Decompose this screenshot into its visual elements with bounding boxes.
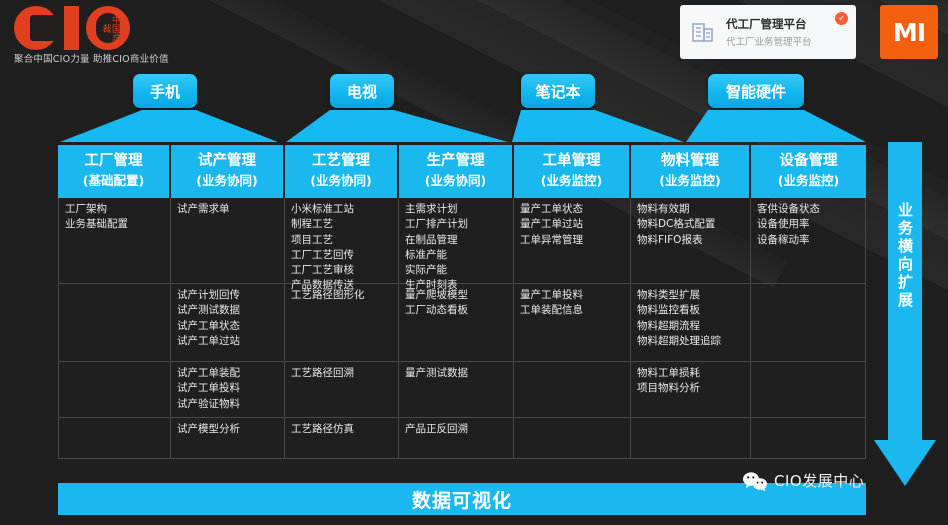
matrix-cell[interactable] [514, 418, 631, 459]
matrix-header-factory[interactable]: 工厂管理 (基础配置) [58, 145, 171, 198]
tab-smart-hardware[interactable]: 智能硬件 [708, 74, 804, 108]
matrix-cell-item: 物料工单损耗 [637, 366, 745, 381]
business-expansion-arrow: 业务横向扩展 [874, 142, 936, 497]
matrix-cell-item: 小米标准工站 [291, 202, 393, 217]
matrix-cell[interactable] [751, 362, 866, 418]
matrix-cell-item: 试产计划回传 [177, 288, 279, 303]
matrix-cell-item: 工厂工艺审核 [291, 263, 393, 278]
matrix-cell-item: 实际产能 [405, 263, 508, 278]
matrix-cell[interactable] [751, 284, 866, 362]
app-card-text: 代工厂管理平台 代工厂业务管理平台 [726, 16, 812, 48]
matrix-cell-item: 量产测试数据 [405, 366, 508, 381]
matrix-cell-item: 物料监控看板 [637, 303, 745, 318]
funnel-connector-mobile [60, 110, 278, 145]
check-badge-icon: ✓ [835, 12, 848, 25]
matrix-cell-item: 设备使用率 [757, 217, 860, 232]
matrix-cell[interactable]: 物料工单损耗项目物料分析 [631, 362, 751, 418]
matrix-cell-item: 试产工单状态 [177, 319, 279, 334]
tab-mobile[interactable]: 手机 [133, 74, 197, 108]
matrix-cell-item: 工艺路径仿真 [291, 422, 393, 437]
matrix-cell[interactable]: 量产测试数据 [399, 362, 514, 418]
matrix-cell-item: 主需求计划 [405, 202, 508, 217]
matrix-cell[interactable]: 量产工单状态量产工单过站工单异常管理 [514, 198, 631, 284]
matrix-cell-item: 试产工单投料 [177, 381, 279, 396]
matrix-cell-item: 工厂工艺回传 [291, 248, 393, 263]
matrix-cell-item: 量产工单状态 [520, 202, 625, 217]
wechat-label: CIO发展中心 [774, 470, 864, 491]
matrix-cell[interactable] [751, 418, 866, 459]
matrix-cell-item: 工艺路径图形化 [291, 288, 393, 303]
matrix-cell-item: 工厂架构 [65, 202, 165, 217]
slide-canvas: 中国总裁 聚合中国CIO力量 助推CIO商业价值 代工厂管理平台 代工厂业务管理… [0, 0, 948, 525]
logo-chinese-glyph: 中国总裁 [98, 12, 119, 44]
wechat-watermark: CIO发展中心 [742, 470, 864, 491]
matrix-cell-item: 试产模型分析 [177, 422, 279, 437]
matrix-header-process[interactable]: 工艺管理 (业务协同) [285, 145, 399, 198]
arrow-label: 业务横向扩展 [888, 202, 922, 310]
matrix-cell-item: 试产工单过站 [177, 334, 279, 349]
building-icon [690, 19, 716, 45]
matrix-cell-item: 量产工单投料 [520, 288, 625, 303]
logo-letter-c-icon [14, 6, 58, 50]
matrix-cell-item: 物料FIFO报表 [637, 233, 745, 248]
matrix-header-trial-production[interactable]: 试产管理 (业务协同) [171, 145, 285, 198]
matrix-header-production[interactable]: 生产管理 (业务协同) [399, 145, 514, 198]
cio-logo-marks: 中国总裁 [10, 4, 200, 50]
tab-laptop[interactable]: 笔记本 [521, 74, 595, 108]
matrix-cell-item: 工艺路径回溯 [291, 366, 393, 381]
app-card-subtitle: 代工厂业务管理平台 [726, 34, 812, 48]
capability-matrix: 工厂管理 (基础配置) 试产管理 (业务协同) 工艺管理 (业务协同) 生产管理… [58, 145, 866, 459]
matrix-cell-item: 业务基础配置 [65, 217, 165, 232]
matrix-cell-item: 物料类型扩展 [637, 288, 745, 303]
matrix-cell-item: 项目物料分析 [637, 381, 745, 396]
matrix-cell-item: 物料DC格式配置 [637, 217, 745, 232]
matrix-cell[interactable] [631, 418, 751, 459]
matrix-cell-item: 量产爬坡模型 [405, 288, 508, 303]
matrix-cell[interactable]: 工艺路径回溯 [285, 362, 399, 418]
matrix-cell-item: 物料超期处理追踪 [637, 334, 745, 349]
mi-brand-logo: MI [880, 5, 938, 59]
matrix-cell-item: 在制品管理 [405, 233, 508, 248]
matrix-cell-item: 客供设备状态 [757, 202, 860, 217]
matrix-cell-item: 量产工单过站 [520, 217, 625, 232]
matrix-cell[interactable]: 物料有效期物料DC格式配置物料FIFO报表 [631, 198, 751, 284]
matrix-cell[interactable]: 试产模型分析 [171, 418, 285, 459]
matrix-cell[interactable]: 试产计划回传试产测试数据试产工单状态试产工单过站 [171, 284, 285, 362]
matrix-row: 工厂架构业务基础配置 试产需求单 小米标准工站制程工艺项目工艺工厂工艺回传工厂工… [58, 198, 866, 284]
matrix-cell-item: 产品正反回溯 [405, 422, 508, 437]
matrix-cell-item: 试产工单装配 [177, 366, 279, 381]
matrix-cell[interactable]: 工艺路径图形化 [285, 284, 399, 362]
matrix-cell-item: 试产需求单 [177, 202, 279, 217]
matrix-cell[interactable] [58, 284, 171, 362]
matrix-row: 试产模型分析 工艺路径仿真 产品正反回溯 [58, 418, 866, 459]
matrix-cell[interactable]: 产品正反回溯 [399, 418, 514, 459]
matrix-cell-item: 工单装配信息 [520, 303, 625, 318]
funnel-connector-smart-hardware [686, 110, 866, 145]
matrix-cell-item: 物料超期流程 [637, 319, 745, 334]
matrix-cell-item: 项目工艺 [291, 233, 393, 248]
funnel-connector-tv [286, 110, 508, 145]
cio-logo: 中国总裁 聚合中国CIO力量 助推CIO商业价值 [10, 4, 200, 66]
matrix-cell[interactable]: 量产工单投料工单装配信息 [514, 284, 631, 362]
logo-letter-i-icon [64, 6, 79, 50]
matrix-cell[interactable]: 工厂架构业务基础配置 [58, 198, 171, 284]
matrix-cell-item: 试产验证物料 [177, 397, 279, 412]
arrow-head-icon [874, 440, 936, 486]
matrix-cell[interactable]: 工艺路径仿真 [285, 418, 399, 459]
matrix-header-row: 工厂管理 (基础配置) 试产管理 (业务协同) 工艺管理 (业务协同) 生产管理… [58, 145, 866, 198]
matrix-header-equipment[interactable]: 设备管理 (业务监控) [751, 145, 866, 198]
matrix-row: 试产计划回传试产测试数据试产工单状态试产工单过站 工艺路径图形化 量产爬坡模型工… [58, 284, 866, 362]
matrix-cell[interactable]: 试产工单装配试产工单投料试产验证物料 [171, 362, 285, 418]
matrix-cell-item: 设备稼动率 [757, 233, 860, 248]
matrix-cell-item: 制程工艺 [291, 217, 393, 232]
app-card[interactable]: 代工厂管理平台 代工厂业务管理平台 ✓ [680, 5, 856, 59]
matrix-cell[interactable]: 量产爬坡模型工厂动态看板 [399, 284, 514, 362]
matrix-header-material[interactable]: 物料管理 (业务监控) [631, 145, 751, 198]
matrix-cell[interactable]: 试产需求单 [171, 198, 285, 284]
matrix-cell-item: 工厂排产计划 [405, 217, 508, 232]
logo-tagline: 聚合中国CIO力量 助推CIO商业价值 [14, 51, 169, 65]
funnel-connector-laptop [512, 110, 684, 145]
matrix-cell[interactable]: 物料类型扩展物料监控看板物料超期流程物料超期处理追踪 [631, 284, 751, 362]
wechat-icon [742, 471, 768, 491]
matrix-cell-item: 标准产能 [405, 248, 508, 263]
matrix-cell-item: 工厂动态看板 [405, 303, 508, 318]
matrix-cell[interactable] [514, 362, 631, 418]
matrix-cell[interactable] [58, 362, 171, 418]
matrix-header-work-order[interactable]: 工单管理 (业务监控) [514, 145, 631, 198]
matrix-row: 试产工单装配试产工单投料试产验证物料 工艺路径回溯 量产测试数据 物料工单损耗项… [58, 362, 866, 418]
matrix-cell[interactable] [58, 418, 171, 459]
matrix-cell[interactable]: 小米标准工站制程工艺项目工艺工厂工艺回传工厂工艺审核产品数据传送 [285, 198, 399, 284]
matrix-cell[interactable]: 客供设备状态设备使用率设备稼动率 [751, 198, 866, 284]
matrix-cell[interactable]: 主需求计划工厂排产计划在制品管理标准产能实际产能生产时刻表 [399, 198, 514, 284]
matrix-cell-item: 工单异常管理 [520, 233, 625, 248]
app-card-title: 代工厂管理平台 [726, 16, 812, 32]
matrix-cell-item: 试产测试数据 [177, 303, 279, 318]
matrix-cell-item: 物料有效期 [637, 202, 745, 217]
tab-tv[interactable]: 电视 [330, 74, 394, 108]
